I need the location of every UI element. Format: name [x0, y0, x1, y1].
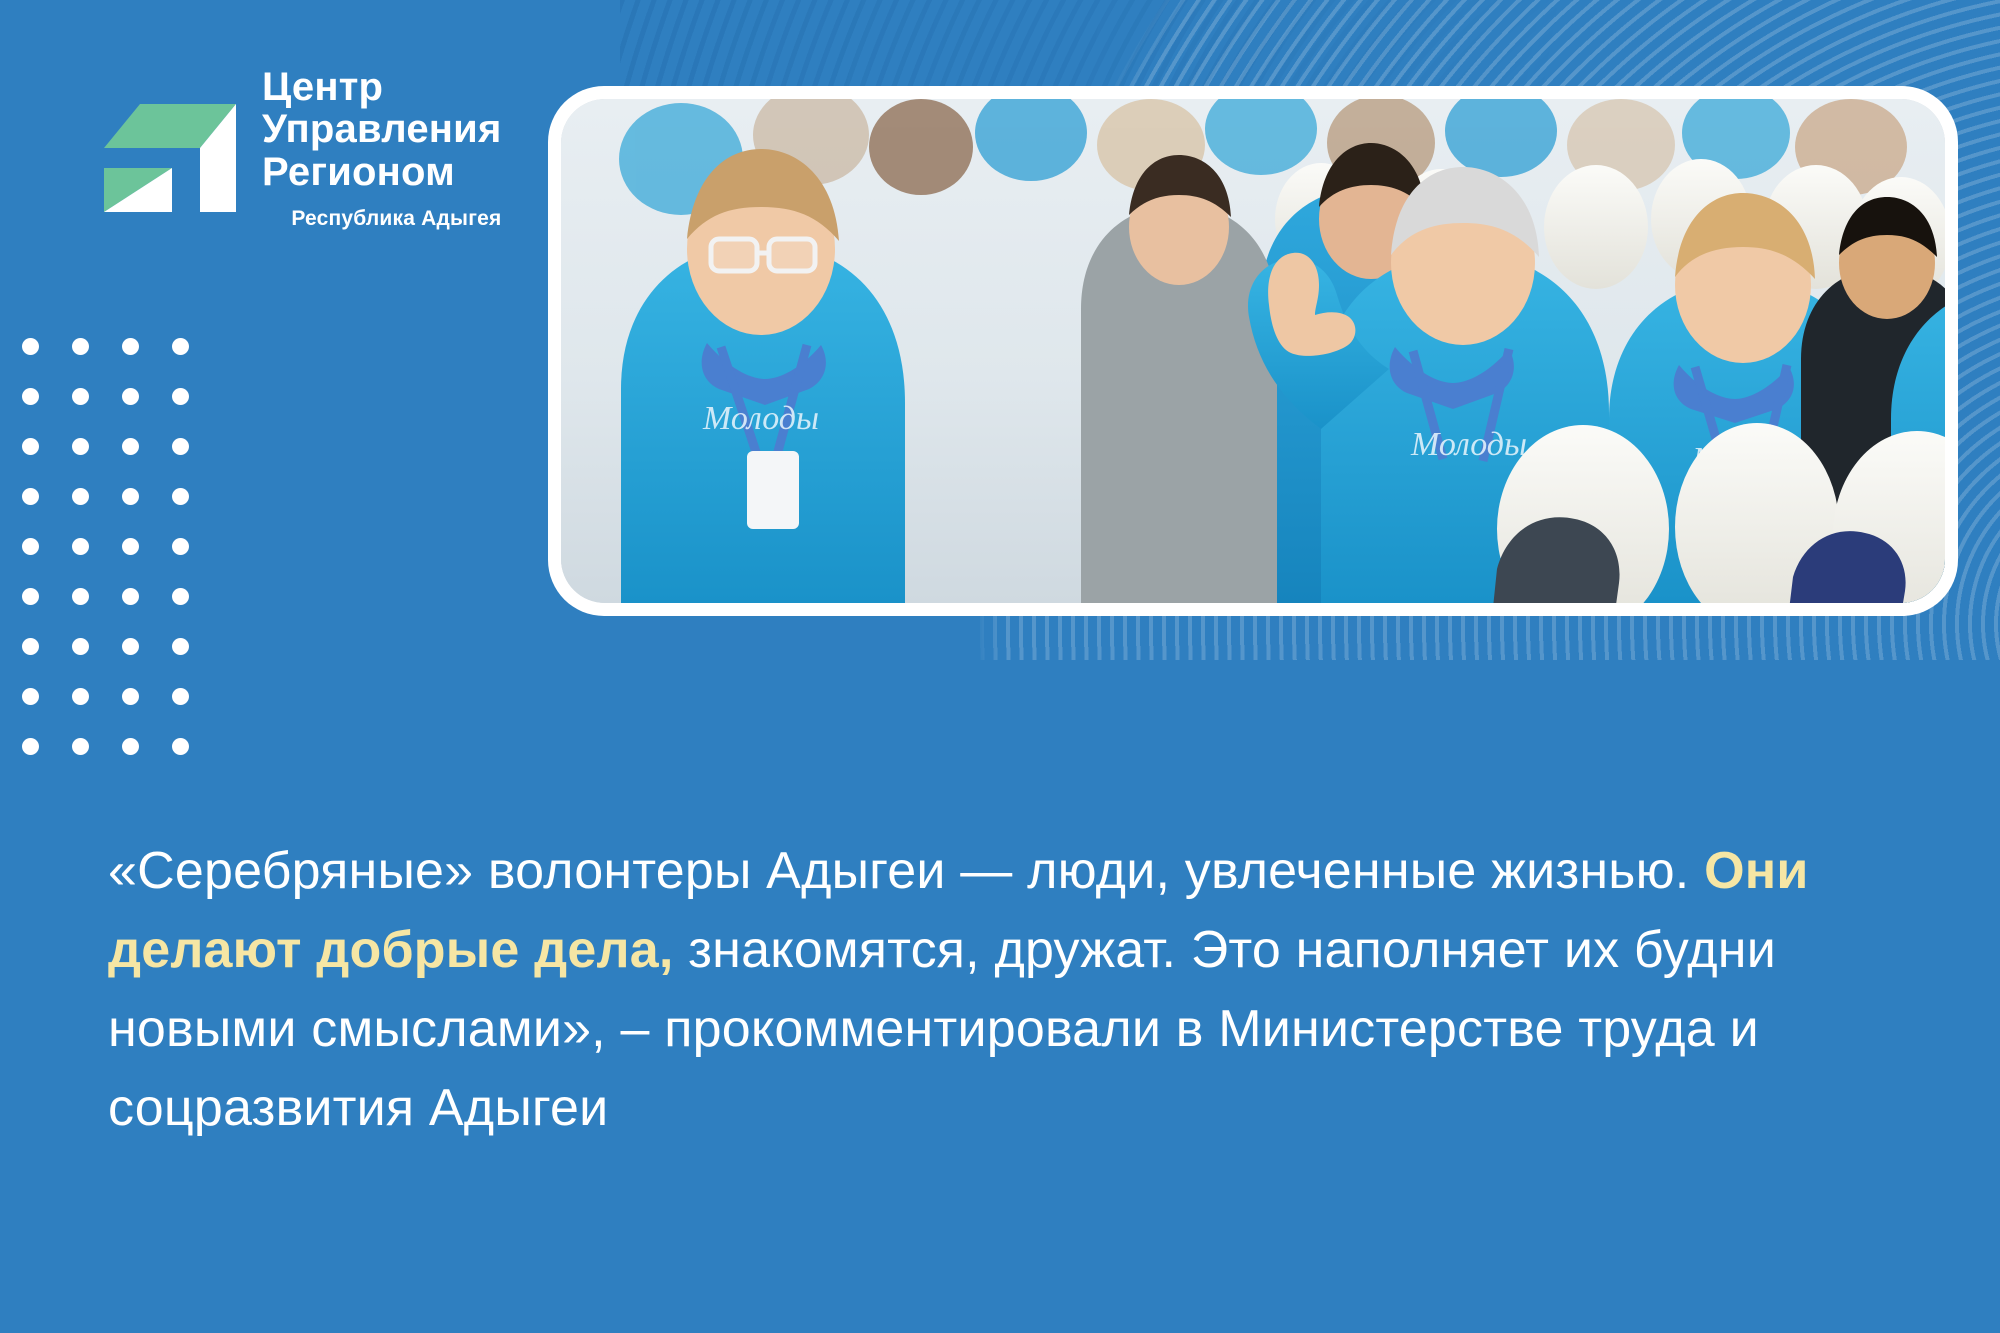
- dot: [22, 638, 39, 655]
- photo-frame: Молоды Молоды: [548, 86, 1958, 616]
- dot: [22, 338, 39, 355]
- dot: [172, 588, 189, 605]
- dot: [172, 438, 189, 455]
- dot: [172, 488, 189, 505]
- dot: [22, 688, 39, 705]
- brand-title: Центр Управления Регионом: [262, 66, 501, 193]
- dot: [22, 388, 39, 405]
- photo-volunteers: Молоды Молоды: [561, 99, 1945, 603]
- dot-grid-decoration: [22, 338, 212, 768]
- photo-illustration: Молоды Молоды: [561, 99, 1945, 603]
- dot: [172, 388, 189, 405]
- dot: [72, 638, 89, 655]
- dot: [22, 588, 39, 605]
- dot: [22, 538, 39, 555]
- dot: [72, 338, 89, 355]
- quote-text: «Серебряные» волонтеры Адыгеи — люди, ув…: [108, 832, 1868, 1148]
- brand-subtitle: Республика Адыгея: [262, 207, 501, 231]
- svg-text:Молоды: Молоды: [702, 400, 819, 437]
- dot: [172, 338, 189, 355]
- dot: [72, 738, 89, 755]
- svg-text:Молоды: Молоды: [1410, 426, 1527, 463]
- dot: [122, 438, 139, 455]
- cur-cube-logo-icon: [96, 60, 236, 212]
- dot: [122, 738, 139, 755]
- dot: [172, 638, 189, 655]
- dot: [22, 488, 39, 505]
- poster-canvas: Центр Управления Регионом Республика Ады…: [0, 0, 2000, 1333]
- dot: [172, 688, 189, 705]
- brand-logo: Центр Управления Регионом Республика Ады…: [96, 60, 501, 231]
- dot: [72, 388, 89, 405]
- dot: [72, 538, 89, 555]
- quote-part-1: «Серебряные» волонтеры Адыгеи — люди, ув…: [108, 842, 1704, 900]
- dot: [172, 538, 189, 555]
- dot: [172, 738, 189, 755]
- dot: [72, 588, 89, 605]
- dot: [22, 738, 39, 755]
- dot: [72, 488, 89, 505]
- dot: [22, 438, 39, 455]
- dot: [122, 638, 139, 655]
- dot: [122, 688, 139, 705]
- dot: [72, 688, 89, 705]
- dot: [122, 338, 139, 355]
- dot: [72, 438, 89, 455]
- brand-logo-text: Центр Управления Регионом Республика Ады…: [262, 60, 501, 231]
- dot: [122, 388, 139, 405]
- dot: [122, 488, 139, 505]
- dot: [122, 588, 139, 605]
- dot: [122, 538, 139, 555]
